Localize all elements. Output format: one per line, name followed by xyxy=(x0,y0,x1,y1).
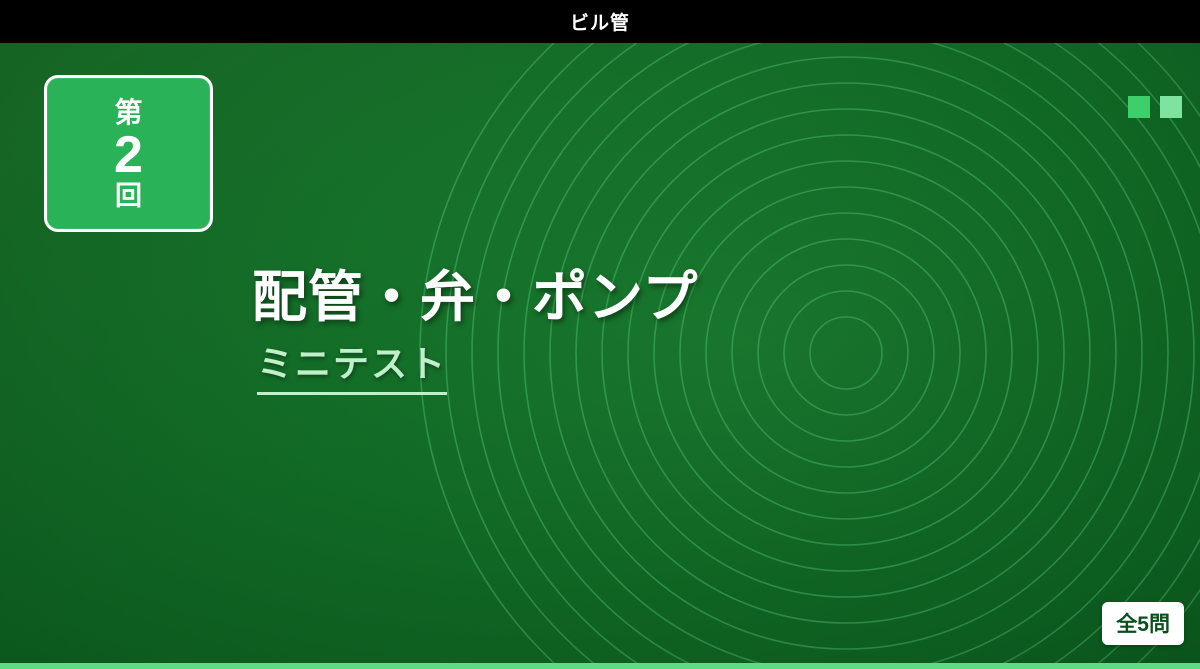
page-subtitle: ミニテスト xyxy=(257,342,447,385)
bottom-accent-strip xyxy=(0,663,1200,669)
episode-badge-suffix: 回 xyxy=(115,183,142,210)
square-accent-right xyxy=(1160,96,1182,118)
subtitle-wrapper: ミニテスト xyxy=(257,342,447,395)
slide-stage: 第 2 回 配管・弁・ポンプ ミニテスト 全5問 xyxy=(0,43,1200,663)
title-block: 配管・弁・ポンプ ミニテスト xyxy=(252,265,698,395)
page-title: 配管・弁・ポンプ xyxy=(252,265,698,330)
square-accent-left xyxy=(1128,96,1150,118)
slide-root: ビル管 xyxy=(0,0,1200,669)
question-count-badge: 全5問 xyxy=(1102,602,1184,645)
header-title: ビル管 xyxy=(570,8,630,35)
subtitle-underline xyxy=(257,392,447,395)
corner-squares-decoration xyxy=(1128,96,1182,118)
episode-badge-prefix: 第 xyxy=(114,99,142,127)
header-bar: ビル管 xyxy=(0,0,1200,43)
episode-badge-number: 2 xyxy=(114,129,143,182)
episode-badge: 第 2 回 xyxy=(44,75,213,232)
